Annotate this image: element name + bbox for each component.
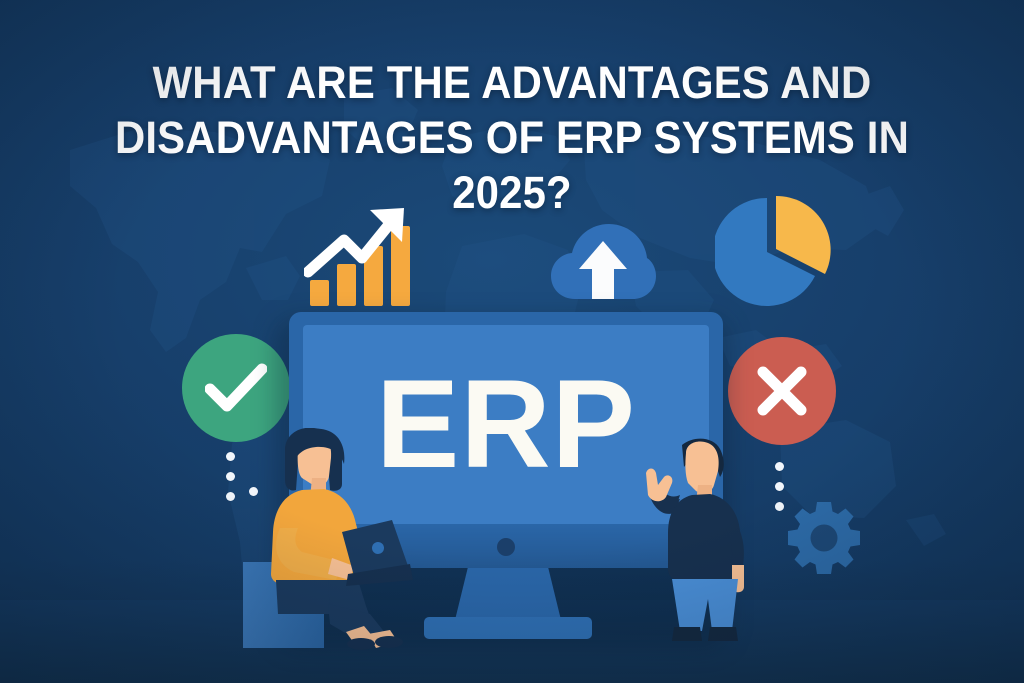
illustration-stage: ERP <box>0 0 1024 683</box>
dot <box>226 452 235 461</box>
dot <box>775 462 784 471</box>
man-gesturing <box>646 437 766 647</box>
monitor-stand-base <box>424 617 592 639</box>
shoe <box>708 627 738 641</box>
check-mark-glyph <box>205 363 267 413</box>
cloud-upload-icon <box>551 219 656 305</box>
monitor-stand-neck <box>455 568 561 620</box>
jeans <box>672 579 738 631</box>
cross-mark-glyph <box>755 364 809 418</box>
dot-pattern-left <box>226 452 235 501</box>
shoe <box>672 627 702 641</box>
hero-banner: WHAT ARE THE ADVANTAGES AND DISADVANTAGE… <box>0 0 1024 683</box>
dot <box>775 502 784 511</box>
woman-with-laptop <box>258 428 413 650</box>
dot <box>226 472 235 481</box>
growth-chart-icon <box>304 208 422 308</box>
shoe <box>375 636 403 648</box>
cross-circle-icon <box>728 337 836 445</box>
gear-icon <box>786 500 862 576</box>
dot-pattern-right <box>775 462 784 511</box>
pie-chart-icon <box>715 194 833 310</box>
shoe <box>347 638 375 650</box>
check-circle-icon <box>182 334 290 442</box>
dot-accent <box>249 487 258 496</box>
dot <box>226 492 235 501</box>
monitor-power-button <box>497 538 515 556</box>
dot <box>775 482 784 491</box>
